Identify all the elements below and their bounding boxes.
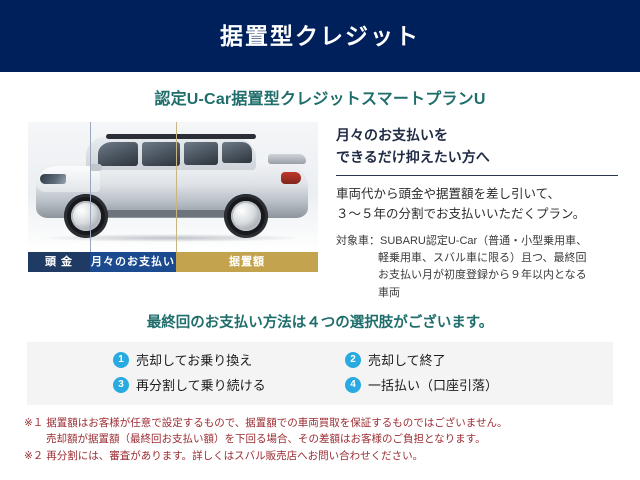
front-wheel — [64, 194, 108, 238]
plan-headline: 月々のお支払いを できるだけ抑えたい方へ — [336, 125, 618, 168]
option-item-4[interactable]: 4 一括払い（口座引落） — [345, 377, 613, 393]
car-cost-diagram: 頭 金 月々のお支払い 据置額 — [28, 122, 318, 272]
plan-body-text: 車両代から頭金や据置額を差し引いて、 ３〜５年の分割でお支払いいただくプラン。 — [336, 184, 618, 224]
car-roof-rail — [106, 134, 256, 139]
eligible-vehicles-line-1: 対象車：SUBARU認定U-Car（普通・小型乗用車、 — [336, 235, 587, 247]
final-payment-options-box: 1 売却してお乗り換え 2 売却して終了 3 再分割して乗り続ける 4 一括払い… — [27, 342, 613, 405]
plan-body-line-1: 車両代から頭金や据置額を差し引いて、 — [336, 187, 560, 201]
option-label-1: 売却してお乗り換え — [136, 354, 252, 367]
car-window-second — [142, 142, 180, 166]
car-window-front — [98, 142, 138, 166]
header-banner: 据置型クレジット — [0, 0, 640, 72]
plan-headline-line-1: 月々のお支払いを — [336, 127, 448, 143]
rear-wheel — [224, 194, 268, 238]
page-title: 据置型クレジット — [220, 25, 420, 48]
option-number-badge-2: 2 — [345, 352, 361, 368]
suv-illustration — [28, 122, 318, 252]
footnote-line-1: ※１ 据置額はお客様が任意で設定するもので、据置額での車両買取を保証するものでは… — [24, 415, 640, 431]
cost-segment-residual-value: 据置額 — [176, 252, 318, 272]
car-spoiler-shape — [268, 154, 306, 164]
eligible-vehicles-line-4: 車両 — [336, 285, 618, 302]
main-content: 頭 金 月々のお支払い 据置額 月々のお支払いを できるだけ抑えたい方へ 車両代… — [0, 122, 640, 302]
option-number-badge-3: 3 — [113, 377, 129, 393]
cost-segment-down-payment: 頭 金 — [28, 252, 90, 272]
eligible-vehicles-line-2: 軽乗用車、スバル車に限る）且つ、最終回 — [336, 250, 618, 267]
cost-breakdown-bar: 頭 金 月々のお支払い 据置額 — [28, 252, 318, 272]
ground-shadow — [42, 234, 300, 242]
headline-divider — [336, 175, 618, 176]
car-photo — [28, 122, 318, 252]
option-number-badge-4: 4 — [345, 377, 361, 393]
option-item-2[interactable]: 2 売却して終了 — [345, 352, 613, 368]
footnote-line-3: ※２ 再分割には、審査があります。詳しくはスバル販売店へお問い合わせください。 — [24, 448, 640, 464]
plan-subtitle: 認定U-Car据置型クレジットスマートプランU — [0, 92, 640, 108]
taillight-icon — [281, 172, 301, 184]
side-mirror-shape — [90, 164, 102, 171]
final-payment-options-heading: 最終回のお支払い方法は４つの選択肢がございます。 — [0, 316, 640, 331]
cost-segment-monthly-payment: 月々のお支払い — [90, 252, 176, 272]
eligible-vehicles-note: 対象車：SUBARU認定U-Car（普通・小型乗用車、 軽乗用車、スバル車に限る… — [336, 233, 618, 301]
option-item-1[interactable]: 1 売却してお乗り換え — [113, 352, 345, 368]
footnotes: ※１ 据置額はお客様が任意で設定するもので、据置額での車両買取を保証するものでは… — [0, 415, 640, 464]
final-payment-options-list: 1 売却してお乗り換え 2 売却して終了 3 再分割して乗り続ける 4 一括払い… — [27, 352, 613, 393]
footnote-line-2: 売却額が据置額（最終回お支払い額）を下回る場合、その差額はお客様のご負担となりま… — [24, 431, 640, 447]
segment-divider-1 — [90, 122, 91, 252]
headlight-icon — [40, 174, 66, 184]
option-item-3[interactable]: 3 再分割して乗り続ける — [113, 377, 345, 393]
plan-headline-line-2: できるだけ抑えたい方へ — [336, 149, 490, 165]
plan-body-line-2: ３〜５年の分割でお支払いいただくプラン。 — [336, 207, 585, 221]
plan-description: 月々のお支払いを できるだけ抑えたい方へ 車両代から頭金や据置額を差し引いて、 … — [318, 122, 618, 302]
option-number-badge-1: 1 — [113, 352, 129, 368]
option-label-2: 売却して終了 — [368, 354, 446, 367]
car-window-rear — [222, 142, 252, 163]
option-label-3: 再分割して乗り続ける — [136, 379, 266, 392]
car-window-third — [184, 142, 218, 165]
eligible-vehicles-line-3: お支払い月が初度登録から９年以内となる — [336, 267, 618, 284]
segment-divider-2 — [176, 122, 177, 252]
option-label-4: 一括払い（口座引落） — [368, 379, 498, 392]
